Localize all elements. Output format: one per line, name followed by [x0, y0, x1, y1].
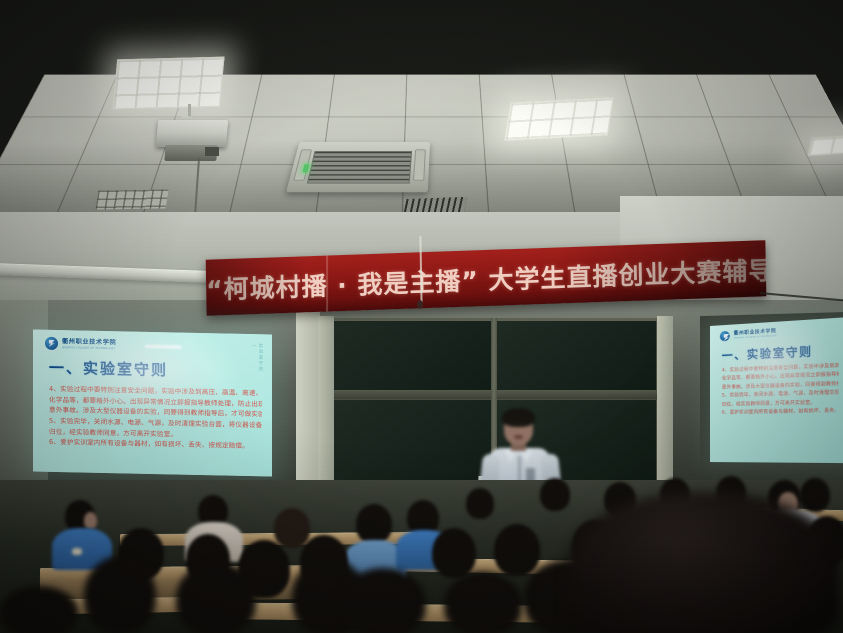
- blackboard-outer-frame-left: [296, 312, 320, 502]
- presenter-mouth: [514, 435, 523, 439]
- projection-screen-right: 衢州职业技术学院 QUZHOU COLLEGE OF TECHNOLOGY 一、…: [710, 317, 843, 463]
- ceiling-projector: [156, 120, 228, 147]
- ac-status-led-icon: [302, 164, 309, 172]
- slide-body: 4、实验过程中要特别注意安全问题，实验中涉及到高压、高温、高速、腐蚀 化学品等，…: [49, 384, 262, 452]
- presentation-slide-left: 衢州职业技术学院 QUZHOU COLLEGE OF TECHNOLOGY 实验…: [33, 329, 272, 476]
- slide-logo: 衢州职业技术学院 QUZHOU COLLEGE OF TECHNOLOGY: [45, 337, 116, 351]
- blackboard-side-frame-left: [318, 316, 334, 498]
- hair-tie-icon: [72, 548, 82, 555]
- panel-light-left-icon: [112, 57, 224, 110]
- projection-screen-left: 衢州职业技术学院 QUZHOU COLLEGE OF TECHNOLOGY 实验…: [33, 329, 272, 476]
- audience-head: [274, 508, 310, 548]
- hanging-cable-knob: [417, 300, 423, 309]
- slide-title: 一、实验室守则: [722, 343, 813, 364]
- audience-head-front: [0, 586, 78, 633]
- audience-head: [432, 528, 476, 578]
- school-logo-icon: [720, 331, 730, 342]
- audience-head: [494, 524, 540, 576]
- slide-organization-subtitle: QUZHOU COLLEGE OF TECHNOLOGY: [62, 346, 116, 350]
- ac-grille-icon: [307, 151, 412, 183]
- school-logo-icon: [45, 337, 58, 350]
- panel-light-right-icon: [808, 134, 843, 156]
- audience-head-front: [444, 572, 522, 633]
- slide-body: 4、实验过程中要特别注意安全问题，实验中涉及到高压、高温、高速、腐蚀 化学品等，…: [722, 363, 839, 419]
- audience-head-front: [176, 562, 256, 633]
- ac-vane-right-icon: [413, 149, 426, 180]
- slide-body-line: 6、爱护实训室内所有设备与器材，如有损坏、丢失、按规定赔偿。: [722, 408, 839, 419]
- audience-face: [84, 512, 97, 529]
- slide-logo: 衢州职业技术学院 QUZHOU COLLEGE OF TECHNOLOGY: [720, 328, 777, 342]
- foreground-head: [568, 492, 840, 633]
- lecture-hall-photo: “柯城村播 · 我是主播” 大学生直播创业大赛辅导会 衢州职业技术学院 QUZH…: [0, 0, 843, 633]
- audience-head: [540, 478, 570, 511]
- slide-title: 一、实验室守则: [49, 357, 168, 380]
- projector-vent-icon: [205, 147, 219, 156]
- slide-glare: [145, 345, 181, 349]
- audience-head: [466, 488, 494, 519]
- slide-vertical-note: 实验室守则一: [250, 343, 263, 377]
- audience-head: [356, 504, 392, 544]
- glasses-icon: [506, 423, 531, 429]
- blackboard-panel-top-right: [496, 321, 656, 393]
- audience-head-front: [84, 556, 156, 633]
- presentation-slide-right: 衢州职业技术学院 QUZHOU COLLEGE OF TECHNOLOGY 一、…: [710, 317, 843, 463]
- air-vent-left: [95, 189, 168, 209]
- panel-light-center-icon: [504, 97, 613, 140]
- audience-head: [800, 478, 830, 512]
- audience-head-front: [340, 568, 426, 633]
- blackboard-panel-top-left: [334, 321, 492, 393]
- blackboard-side-frame-right: [657, 316, 673, 498]
- air-conditioner: [286, 142, 430, 192]
